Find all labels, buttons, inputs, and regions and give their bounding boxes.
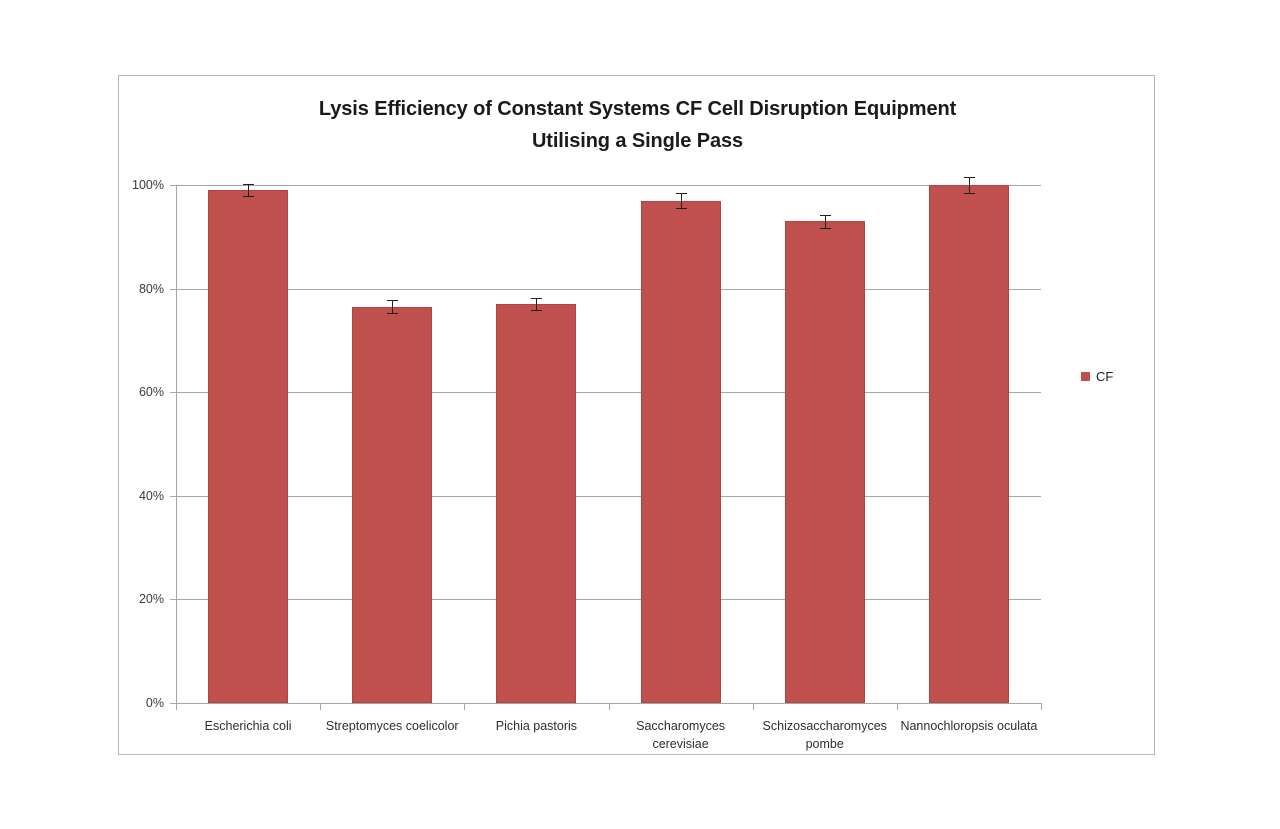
x-tick-mark: [609, 703, 610, 710]
x-tick-mark: [320, 703, 321, 710]
error-cap-upper: [387, 300, 398, 301]
bar[interactable]: [496, 304, 576, 703]
x-axis-category-label: Schizosaccharomyces pombe: [753, 717, 897, 753]
error-cap-lower: [820, 228, 831, 229]
error-cap-upper: [676, 193, 687, 194]
y-tick-mark: [170, 599, 176, 600]
y-axis-tick-label: 40%: [139, 489, 164, 503]
y-axis-tick-label: 80%: [139, 282, 164, 296]
bar[interactable]: [785, 221, 865, 703]
error-cap-upper: [820, 215, 831, 216]
legend-swatch-cf: [1081, 372, 1090, 381]
error-bar: [392, 300, 393, 313]
chart-page: Lysis Efficiency of Constant Systems CF …: [0, 0, 1280, 829]
gridline-40%: [176, 496, 1041, 497]
gridline-80%: [176, 289, 1041, 290]
error-cap-lower: [676, 208, 687, 209]
x-axis-category-label: Pichia pastoris: [464, 717, 608, 735]
chart-title-line-1: Lysis Efficiency of Constant Systems CF …: [119, 94, 1156, 126]
y-tick-mark: [170, 289, 176, 290]
gridline-20%: [176, 599, 1041, 600]
error-bar: [681, 193, 682, 209]
error-cap-lower: [964, 193, 975, 194]
x-tick-mark: [176, 703, 177, 710]
y-tick-mark: [170, 185, 176, 186]
x-axis-category-label: Escherichia coli: [176, 717, 320, 735]
y-tick-mark: [170, 496, 176, 497]
bar[interactable]: [352, 307, 432, 703]
error-cap-upper: [243, 184, 254, 185]
x-tick-mark: [1041, 703, 1042, 710]
gridline-100%: [176, 185, 1041, 186]
x-axis-category-label: Saccharomyces cerevisiae: [609, 717, 753, 753]
y-tick-mark: [170, 392, 176, 393]
bar[interactable]: [929, 185, 1009, 703]
plot-area: 0%20%40%60%80%100%Escherichia coliStrept…: [176, 185, 1041, 703]
bar[interactable]: [641, 201, 721, 703]
y-axis-tick-label: 60%: [139, 385, 164, 399]
y-axis-tick-label: 100%: [132, 178, 164, 192]
error-bar: [969, 177, 970, 194]
error-bar: [248, 184, 249, 196]
legend-label-cf: CF: [1096, 369, 1113, 384]
error-cap-lower: [531, 310, 542, 311]
error-cap-upper: [964, 177, 975, 178]
bar[interactable]: [208, 190, 288, 703]
error-bar: [825, 215, 826, 228]
x-axis-category-label: Nannochloropsis oculata: [897, 717, 1041, 735]
x-tick-mark: [897, 703, 898, 710]
y-axis-tick-label: 20%: [139, 592, 164, 606]
x-tick-mark: [464, 703, 465, 710]
y-axis-tick-label: 0%: [146, 696, 164, 710]
chart-title: Lysis Efficiency of Constant Systems CF …: [119, 94, 1156, 157]
error-cap-lower: [387, 313, 398, 314]
chart-frame: Lysis Efficiency of Constant Systems CF …: [118, 75, 1155, 755]
error-bar: [536, 298, 537, 310]
error-cap-upper: [531, 298, 542, 299]
gridline-60%: [176, 392, 1041, 393]
y-axis-line: [176, 185, 177, 704]
legend: CF: [1081, 369, 1113, 384]
error-cap-lower: [243, 196, 254, 197]
x-tick-mark: [753, 703, 754, 710]
chart-title-line-2: Utilising a Single Pass: [119, 126, 1156, 158]
x-axis-category-label: Streptomyces coelicolor: [320, 717, 464, 735]
